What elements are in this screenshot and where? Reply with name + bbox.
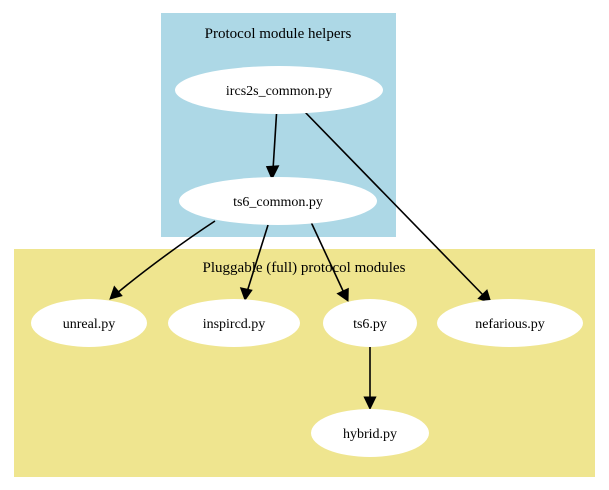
node-unreal[interactable]: unreal.py — [31, 299, 147, 347]
cluster-pluggable-label: Pluggable (full) protocol modules — [203, 260, 406, 276]
node-label: ircs2s_common.py — [226, 84, 332, 99]
cluster-helpers-label: Protocol module helpers — [205, 26, 352, 42]
cluster-pluggable-box — [14, 249, 595, 477]
node-label: inspircd.py — [203, 317, 266, 332]
node-inspircd[interactable]: inspircd.py — [168, 299, 300, 347]
node-ircs2s-common[interactable]: ircs2s_common.py — [175, 66, 383, 114]
node-nefarious[interactable]: nefarious.py — [437, 299, 583, 347]
diagram-canvas: Protocol module helpers Pluggable (full)… — [0, 0, 609, 490]
node-label: nefarious.py — [475, 317, 545, 332]
node-ts6[interactable]: ts6.py — [323, 299, 417, 347]
node-label: ts6.py — [353, 317, 387, 332]
node-hybrid[interactable]: hybrid.py — [311, 409, 429, 457]
node-ts6-common[interactable]: ts6_common.py — [179, 177, 377, 225]
cluster-pluggable: Pluggable (full) protocol modules — [14, 249, 595, 477]
node-label: ts6_common.py — [233, 195, 323, 210]
node-label: unreal.py — [63, 317, 115, 332]
node-label: hybrid.py — [343, 427, 397, 442]
graph-svg: Protocol module helpers Pluggable (full)… — [0, 0, 609, 490]
